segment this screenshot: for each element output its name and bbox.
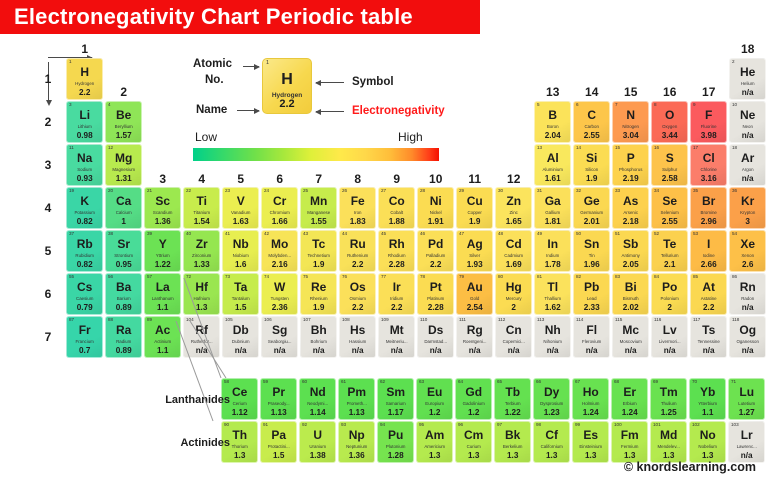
- element-symbol: Cm: [456, 429, 491, 442]
- element-cell-rh[interactable]: 45RhRhodium2.28: [378, 230, 415, 272]
- element-cell-mn[interactable]: 25MnManganese1.55: [300, 187, 337, 229]
- element-symbol: Yb: [690, 386, 725, 399]
- element-cell-ir[interactable]: 77IrIridium2.2: [378, 273, 415, 315]
- element-cell-al[interactable]: 13AlAluminium1.61: [534, 144, 571, 186]
- element-cell-br[interactable]: 35BrBromine2.96: [690, 187, 727, 229]
- element-cell-p[interactable]: 15PPhosphorus2.19: [612, 144, 649, 186]
- element-cell-am[interactable]: 95AmAmericium1.3: [416, 421, 453, 463]
- element-symbol: Pd: [418, 238, 453, 251]
- element-cell-fr[interactable]: 87FrFrancium0.7: [66, 316, 103, 358]
- element-cell-ru[interactable]: 44RuRuthenium2.2: [339, 230, 376, 272]
- element-cell-nb[interactable]: 41NbNiobium1.6: [222, 230, 259, 272]
- element-electronegativity: 1.17: [378, 408, 413, 417]
- element-name: Selenium: [652, 210, 687, 216]
- element-cell-zn[interactable]: 30ZnZinc1.65: [495, 187, 532, 229]
- element-atomic-number: 43: [303, 231, 308, 237]
- element-cell-bh[interactable]: 107BhBohriumn/a: [300, 316, 337, 358]
- element-symbol: Hg: [496, 281, 531, 294]
- element-name: Rhenium: [301, 296, 336, 302]
- element-symbol: Lr: [729, 429, 764, 442]
- element-atomic-number: 4: [108, 102, 111, 108]
- element-symbol: Am: [417, 429, 452, 442]
- element-symbol: Kr: [730, 195, 765, 208]
- element-cell-be[interactable]: 4BeBeryllium1.57: [105, 101, 142, 143]
- legend-atomic-no-label: Atomic: [193, 58, 232, 70]
- element-name: Oganesson: [730, 339, 765, 345]
- element-symbol: Sr: [106, 238, 141, 251]
- element-cell-cn[interactable]: 112CnCopernici...n/a: [495, 316, 532, 358]
- element-electronegativity: 2.54: [457, 303, 492, 312]
- element-name: Bismuth: [613, 296, 648, 302]
- element-name: Radon: [730, 296, 765, 302]
- element-cell-bk[interactable]: 97BkBerkelium1.3: [494, 421, 531, 463]
- element-cell-rf[interactable]: 104RfRutherfor...n/a: [183, 316, 220, 358]
- element-name: Sodium: [67, 167, 102, 173]
- element-cell-o[interactable]: 8OOxygen3.44: [651, 101, 688, 143]
- element-cell-re[interactable]: 75ReRhenium1.9: [300, 273, 337, 315]
- element-cell-ra[interactable]: 88RaRadium0.89: [105, 316, 142, 358]
- element-atomic-number: 99: [575, 422, 580, 428]
- element-name: Uranium: [300, 444, 335, 450]
- element-atomic-number: 12: [108, 145, 113, 151]
- element-name: Copernici...: [496, 339, 531, 345]
- element-cell-mc[interactable]: 115McMoscoviumn/a: [612, 316, 649, 358]
- element-cell-ho[interactable]: 67HoHolmium1.24: [572, 378, 609, 420]
- element-atomic-number: 38: [108, 231, 113, 237]
- element-cell-sm[interactable]: 62SmSamarium1.17: [377, 378, 414, 420]
- element-cell-sg[interactable]: 106SgSeaborgiu...n/a: [261, 316, 298, 358]
- element-atomic-number: 82: [576, 274, 581, 280]
- element-cell-ge[interactable]: 32GeGermanium2.01: [573, 187, 610, 229]
- element-electronegativity: 2.1: [652, 260, 687, 269]
- element-cell-co[interactable]: 27CoCobalt1.88: [378, 187, 415, 229]
- element-name: Barium: [106, 296, 141, 302]
- element-symbol: Cu: [457, 195, 492, 208]
- element-symbol: Os: [340, 281, 375, 294]
- element-atomic-number: 64: [458, 379, 463, 385]
- element-cell-si[interactable]: 14SiSilicon1.9: [573, 144, 610, 186]
- element-cell-sb[interactable]: 51SbAntimony2.05: [612, 230, 649, 272]
- element-symbol: Tc: [301, 238, 336, 251]
- element-atomic-number: 74: [264, 274, 269, 280]
- element-symbol: Fe: [340, 195, 375, 208]
- element-electronegativity: 1.36: [145, 217, 180, 226]
- element-electronegativity: 1.3: [456, 451, 491, 460]
- element-electronegativity: 0.7: [67, 346, 102, 355]
- element-cell-sr[interactable]: 38SrStrontium0.95: [105, 230, 142, 272]
- element-atomic-number: 24: [264, 188, 269, 194]
- element-cell-na[interactable]: 11NaSodium0.93: [66, 144, 103, 186]
- element-cell-yb[interactable]: 70YbYtterbium1.1: [689, 378, 726, 420]
- element-name: Zinc: [496, 210, 531, 216]
- element-cell-at[interactable]: 85AtAstatine2.2: [690, 273, 727, 315]
- element-cell-kr[interactable]: 36KrKrypton3: [729, 187, 766, 229]
- element-atomic-number: 36: [732, 188, 737, 194]
- element-electronegativity: 1.3: [612, 451, 647, 460]
- group-label-14: 14: [573, 85, 610, 99]
- element-name: Radium: [106, 339, 141, 345]
- element-symbol: Au: [457, 281, 492, 294]
- element-name: Helium: [730, 81, 765, 87]
- element-cell-cm[interactable]: 96CmCurium1.3: [455, 421, 492, 463]
- element-atomic-number: 110: [420, 317, 427, 323]
- element-electronegativity: 1.31: [106, 174, 141, 183]
- element-symbol: Ni: [418, 195, 453, 208]
- element-symbol: S: [652, 152, 687, 165]
- element-cell-ba[interactable]: 56BaBarium0.89: [105, 273, 142, 315]
- period-label-2: 2: [40, 115, 56, 129]
- element-symbol: Md: [651, 429, 686, 442]
- element-cell-he[interactable]: 2HeHeliumn/a: [729, 58, 766, 100]
- element-cell-ta[interactable]: 73TaTantalum1.5: [222, 273, 259, 315]
- element-name: Plutonium: [378, 444, 413, 450]
- element-atomic-number: 107: [303, 317, 311, 323]
- element-name: Fluorine: [691, 124, 726, 130]
- element-name: Nickel: [418, 210, 453, 216]
- element-atomic-number: 81: [537, 274, 542, 280]
- element-name: Rutherfor...: [184, 339, 219, 345]
- element-electronegativity: n/a: [418, 346, 453, 355]
- element-atomic-number: 96: [458, 422, 463, 428]
- element-symbol: Nh: [535, 324, 570, 337]
- element-cell-pa[interactable]: 91PaProtactini...1.5: [260, 421, 297, 463]
- element-electronegativity: 0.82: [67, 260, 102, 269]
- element-cell-db[interactable]: 105DbDubniumn/a: [222, 316, 259, 358]
- element-cell-cl[interactable]: 17ClChlorine3.16: [690, 144, 727, 186]
- element-cell-no[interactable]: 102NoNobelium1.3: [689, 421, 726, 463]
- element-cell-la[interactable]: 57LaLanthanum1.1: [144, 273, 181, 315]
- element-name: Praseody...: [261, 401, 296, 407]
- element-atomic-number: 84: [654, 274, 659, 280]
- element-cell-in[interactable]: 49InIndium1.78: [534, 230, 571, 272]
- element-cell-ga[interactable]: 31GaGallium1.81: [534, 187, 571, 229]
- element-name: Tellurium: [652, 253, 687, 259]
- element-cell-tb[interactable]: 65TbTerbium1.22: [494, 378, 531, 420]
- element-atomic-number: 71: [731, 379, 736, 385]
- element-cell-i[interactable]: 53IIodine2.66: [690, 230, 727, 272]
- electronegativity-scale-bar: [193, 148, 439, 161]
- element-atomic-number: 112: [498, 317, 505, 323]
- element-cell-cu[interactable]: 29CuCopper1.9: [456, 187, 493, 229]
- element-name: Lead: [574, 296, 609, 302]
- element-symbol: Mo: [262, 238, 297, 251]
- element-name: Astatine: [691, 296, 726, 302]
- element-name: Silver: [457, 253, 492, 259]
- element-cell-hs[interactable]: 108HsHassiumn/a: [339, 316, 376, 358]
- element-atomic-number: 102: [692, 422, 700, 428]
- element-electronegativity: 0.93: [67, 174, 102, 183]
- element-name: Arsenic: [613, 210, 648, 216]
- element-electronegativity: 3.44: [652, 131, 687, 140]
- element-electronegativity: 2.55: [652, 217, 687, 226]
- element-electronegativity: 1.14: [300, 408, 335, 417]
- element-cell-nd[interactable]: 60NdNeodymi...1.14: [299, 378, 336, 420]
- element-electronegativity: 2.2: [340, 260, 375, 269]
- element-name: Lutetium: [729, 401, 764, 407]
- element-cell-as[interactable]: 33AsArsenic2.18: [612, 187, 649, 229]
- element-cell-cr[interactable]: 24CrChromium1.66: [261, 187, 298, 229]
- element-cell-ar[interactable]: 18ArArgonn/a: [729, 144, 766, 186]
- element-cell-f[interactable]: 9FFluorine3.98: [690, 101, 727, 143]
- element-name: Iodine: [691, 253, 726, 259]
- element-cell-tc[interactable]: 43TcTechnetium1.9: [300, 230, 337, 272]
- scale-low-label: Low: [195, 130, 217, 144]
- element-cell-er[interactable]: 68ErErbium1.24: [611, 378, 648, 420]
- element-cell-cs[interactable]: 55CsCaesium0.79: [66, 273, 103, 315]
- element-symbol: Ti: [184, 195, 219, 208]
- element-electronegativity: 1.55: [301, 217, 336, 226]
- element-cell-sc[interactable]: 21ScScandium1.36: [144, 187, 181, 229]
- element-name: Tin: [574, 253, 609, 259]
- element-atomic-number: 26: [342, 188, 347, 194]
- element-cell-fm[interactable]: 100FmFermium1.3: [611, 421, 648, 463]
- element-symbol: Lu: [729, 386, 764, 399]
- element-cell-cf[interactable]: 98CfCalifornium1.3: [533, 421, 570, 463]
- element-cell-hf[interactable]: 72HfHafnium1.3: [183, 273, 220, 315]
- element-electronegativity: 2.28: [418, 303, 453, 312]
- element-cell-os[interactable]: 76OsOsmium2.2: [339, 273, 376, 315]
- element-name: Bromine: [691, 210, 726, 216]
- element-cell-tl[interactable]: 81TlThallium1.62: [534, 273, 571, 315]
- element-atomic-number: 31: [537, 188, 542, 194]
- element-symbol: Cl: [691, 152, 726, 165]
- element-atomic-number: 105: [225, 317, 233, 323]
- element-electronegativity: 1.83: [340, 217, 375, 226]
- element-cell-s[interactable]: 16SSulphur2.58: [651, 144, 688, 186]
- legend-arrow-electronegativity: [316, 111, 344, 112]
- legend-sample-number: 1: [266, 60, 269, 66]
- element-electronegativity: n/a: [730, 88, 765, 97]
- element-electronegativity: 1.63: [223, 217, 258, 226]
- element-cell-pm[interactable]: 61PmPrometh...1.13: [338, 378, 375, 420]
- element-atomic-number: 78: [420, 274, 425, 280]
- element-symbol: Sm: [378, 386, 413, 399]
- element-cell-u[interactable]: 92UUranium1.38: [299, 421, 336, 463]
- element-cell-ti[interactable]: 22TiTitanium1.54: [183, 187, 220, 229]
- element-cell-xe[interactable]: 54XeXenon2.6: [729, 230, 766, 272]
- element-atomic-number: 29: [459, 188, 464, 194]
- element-symbol: La: [145, 281, 180, 294]
- element-cell-rn[interactable]: 86RnRadonn/a: [729, 273, 766, 315]
- element-cell-og[interactable]: 118OgOganessonn/a: [729, 316, 766, 358]
- element-atomic-number: 61: [341, 379, 346, 385]
- element-cell-es[interactable]: 99EsEinsteinium1.3: [572, 421, 609, 463]
- element-electronegativity: 1.9: [301, 303, 336, 312]
- element-cell-fl[interactable]: 114FlFleroviumn/a: [573, 316, 610, 358]
- element-cell-te[interactable]: 52TeTellurium2.1: [651, 230, 688, 272]
- element-cell-lu[interactable]: 71LuLutetium1.27: [728, 378, 765, 420]
- element-electronegativity: 2.36: [262, 303, 297, 312]
- element-cell-pu[interactable]: 94PuPlutonium1.28: [377, 421, 414, 463]
- element-name: Darmstad...: [418, 339, 453, 345]
- element-symbol: Ho: [573, 386, 608, 399]
- element-cell-sn[interactable]: 50SnTin1.96: [573, 230, 610, 272]
- element-name: Polonium: [652, 296, 687, 302]
- element-electronegativity: 1.9: [301, 260, 336, 269]
- element-cell-bi[interactable]: 83BiBismuth2.02: [612, 273, 649, 315]
- element-electronegativity: n/a: [457, 346, 492, 355]
- element-name: Ytterbium: [690, 401, 725, 407]
- element-cell-k[interactable]: 19KPotassium0.82: [66, 187, 103, 229]
- element-electronegativity: 2.96: [691, 217, 726, 226]
- element-atomic-number: 111: [459, 317, 466, 323]
- element-electronegativity: 1.2: [456, 408, 491, 417]
- element-symbol: Nb: [223, 238, 258, 251]
- element-symbol: Sc: [145, 195, 180, 208]
- element-atomic-number: 106: [264, 317, 272, 323]
- element-name: Beryllium: [106, 124, 141, 130]
- element-electronegativity: 2.02: [613, 303, 648, 312]
- element-atomic-number: 34: [654, 188, 659, 194]
- element-symbol: Mg: [106, 152, 141, 165]
- element-atomic-number: 8: [654, 102, 657, 108]
- element-cell-ca[interactable]: 20CaCalcium1: [105, 187, 142, 229]
- element-cell-rb[interactable]: 37RbRubidium0.82: [66, 230, 103, 272]
- element-symbol: Fr: [67, 324, 102, 337]
- element-cell-dy[interactable]: 66DyDysprosium1.23: [533, 378, 570, 420]
- element-symbol: Pm: [339, 386, 374, 399]
- element-symbol: N: [613, 109, 648, 122]
- element-atomic-number: 14: [576, 145, 581, 151]
- group-label-16: 16: [651, 85, 688, 99]
- element-name: Moscovium: [613, 339, 648, 345]
- element-cell-zr[interactable]: 40ZrZirconium1.33: [183, 230, 220, 272]
- element-atomic-number: 117: [693, 317, 700, 323]
- element-cell-lv[interactable]: 116LvLivermori...n/a: [651, 316, 688, 358]
- element-symbol: Rb: [67, 238, 102, 251]
- element-symbol: Ca: [106, 195, 141, 208]
- element-cell-tm[interactable]: 69TmThulium1.25: [650, 378, 687, 420]
- element-electronegativity: 0.89: [106, 346, 141, 355]
- element-electronegativity: 1.13: [261, 408, 296, 417]
- element-electronegativity: n/a: [730, 131, 765, 140]
- element-name: Potassium: [67, 210, 102, 216]
- element-cell-mt[interactable]: 109MtMeitneriu...n/a: [378, 316, 415, 358]
- element-name: Mercury: [496, 296, 531, 302]
- element-name: Rhodium: [379, 253, 414, 259]
- element-symbol: Ds: [418, 324, 453, 337]
- element-symbol: Ta: [223, 281, 258, 294]
- element-cell-cd[interactable]: 48CdCadmium1.69: [495, 230, 532, 272]
- element-name: Sulphur: [652, 167, 687, 173]
- element-cell-mg[interactable]: 12MgMagnesium1.31: [105, 144, 142, 186]
- element-atomic-number: 19: [69, 188, 74, 194]
- element-cell-ac[interactable]: 89AcActinium1.1: [144, 316, 181, 358]
- element-atomic-number: 41: [225, 231, 230, 237]
- element-electronegativity: n/a: [262, 346, 297, 355]
- group-label-13: 13: [534, 85, 571, 99]
- element-symbol: I: [691, 238, 726, 251]
- element-cell-fe[interactable]: 26FeIron1.83: [339, 187, 376, 229]
- element-symbol: Bh: [301, 324, 336, 337]
- element-symbol: Li: [67, 109, 102, 122]
- element-cell-pr[interactable]: 59PrPraseody...1.13: [260, 378, 297, 420]
- element-name: Calcium: [106, 210, 141, 216]
- element-atomic-number: 104: [186, 317, 194, 323]
- element-cell-c[interactable]: 6CCarbon2.55: [573, 101, 610, 143]
- element-atomic-number: 114: [576, 317, 583, 323]
- element-symbol: Pr: [261, 386, 296, 399]
- element-name: Antimony: [613, 253, 648, 259]
- element-symbol: Sb: [613, 238, 648, 251]
- legend-sample-electronegativity: 2.2: [263, 98, 311, 110]
- element-electronegativity: 1.3: [573, 451, 608, 460]
- element-cell-np[interactable]: 93NpNeptunium1.36: [338, 421, 375, 463]
- element-name: Nihonium: [535, 339, 570, 345]
- element-cell-ts[interactable]: 117TsTennessinen/a: [690, 316, 727, 358]
- element-cell-h[interactable]: 1HHydrogen2.2: [66, 58, 103, 100]
- element-symbol: Sn: [574, 238, 609, 251]
- element-symbol: C: [574, 109, 609, 122]
- element-cell-nh[interactable]: 113NhNihoniumn/a: [534, 316, 571, 358]
- element-cell-md[interactable]: 101MdMendelev...1.3: [650, 421, 687, 463]
- element-electronegativity: 2: [652, 303, 687, 312]
- element-electronegativity: 1.5: [261, 451, 296, 460]
- legend-symbol-label: Symbol: [352, 76, 394, 88]
- element-cell-ne[interactable]: 10NeNeonn/a: [729, 101, 766, 143]
- element-cell-li[interactable]: 3LiLithium0.98: [66, 101, 103, 143]
- element-atomic-number: 58: [224, 379, 229, 385]
- element-electronegativity: 2.2: [379, 303, 414, 312]
- element-name: Thallium: [535, 296, 570, 302]
- element-cell-ni[interactable]: 28NiNickel1.91: [417, 187, 454, 229]
- element-symbol: Rf: [184, 324, 219, 337]
- legend-name-label: Name: [196, 104, 227, 116]
- element-cell-pt[interactable]: 78PtPlatinum2.28: [417, 273, 454, 315]
- element-atomic-number: 11: [69, 145, 74, 151]
- element-cell-hg[interactable]: 80HgMercury2: [495, 273, 532, 315]
- element-cell-ds[interactable]: 110DsDarmstad...n/a: [417, 316, 454, 358]
- element-atomic-number: 73: [225, 274, 230, 280]
- element-name: Indium: [535, 253, 570, 259]
- element-cell-b[interactable]: 5BBoron2.04: [534, 101, 571, 143]
- element-cell-w[interactable]: 74WTungsten2.36: [261, 273, 298, 315]
- element-atomic-number: 85: [693, 274, 698, 280]
- element-atomic-number: 48: [498, 231, 503, 237]
- element-cell-po[interactable]: 84PoPolonium2: [651, 273, 688, 315]
- element-symbol: Ir: [379, 281, 414, 294]
- element-cell-rg[interactable]: 111RgRoentgeni...n/a: [456, 316, 493, 358]
- element-symbol: Y: [145, 238, 180, 251]
- element-electronegativity: 0.79: [67, 303, 102, 312]
- element-name: Ruthenium: [340, 253, 375, 259]
- element-atomic-number: 94: [380, 422, 385, 428]
- element-cell-n[interactable]: 7NNitrogen3.04: [612, 101, 649, 143]
- element-cell-pb[interactable]: 82PbLead2.33: [573, 273, 610, 315]
- element-cell-ag[interactable]: 47AgSilver1.93: [456, 230, 493, 272]
- element-cell-au[interactable]: 79AuGold2.54: [456, 273, 493, 315]
- element-electronegativity: 1.2: [417, 408, 452, 417]
- element-electronegativity: 1.33: [184, 260, 219, 269]
- element-cell-mo[interactable]: 42MoMolybden...2.16: [261, 230, 298, 272]
- element-cell-eu[interactable]: 63EuEuropium1.2: [416, 378, 453, 420]
- element-cell-se[interactable]: 34SeSelenium2.55: [651, 187, 688, 229]
- element-cell-v[interactable]: 23VVanadium1.63: [222, 187, 259, 229]
- element-electronegativity: 1.25: [651, 408, 686, 417]
- element-cell-lr[interactable]: 103LrLawrenc...n/a: [728, 421, 765, 463]
- element-atomic-number: 52: [654, 231, 659, 237]
- element-atomic-number: 39: [147, 231, 152, 237]
- element-name: Yttrium: [145, 253, 180, 259]
- element-name: Nitrogen: [613, 124, 648, 130]
- element-name: Europium: [417, 401, 452, 407]
- element-name: Neodymi...: [300, 401, 335, 407]
- element-cell-gd[interactable]: 64GdGadolinium1.2: [455, 378, 492, 420]
- element-cell-pd[interactable]: 46PdPalladium2.2: [417, 230, 454, 272]
- element-cell-y[interactable]: 39YYttrium1.22: [144, 230, 181, 272]
- element-symbol: Na: [67, 152, 102, 165]
- element-symbol: Po: [652, 281, 687, 294]
